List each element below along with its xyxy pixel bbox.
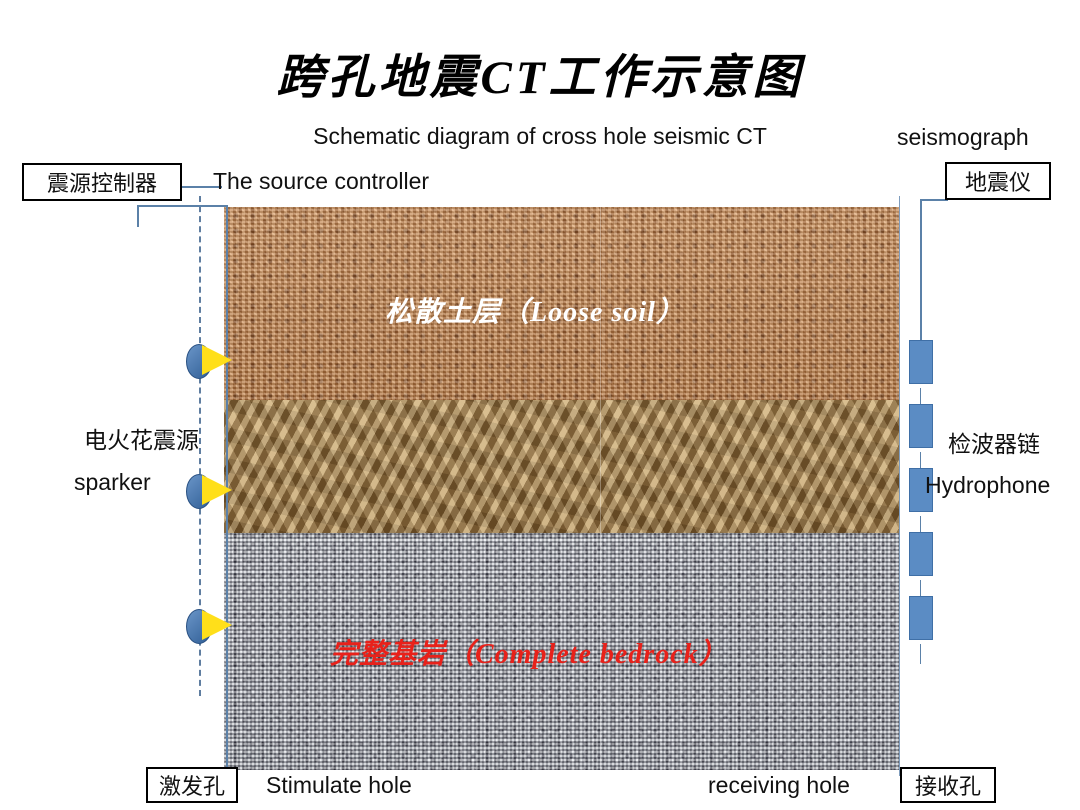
sparker-source-1[interactable] (186, 339, 232, 381)
hydrophone-1[interactable] (909, 340, 933, 384)
controller-wire-drop-left (137, 205, 139, 227)
sparker-source-2[interactable] (186, 469, 232, 511)
seismograph-lead (920, 199, 948, 201)
sparker-source-3[interactable] (186, 604, 232, 646)
wave-beam-icon (202, 345, 232, 375)
hydrophone-4[interactable] (909, 532, 933, 576)
receiving-hole-box[interactable]: 接收孔 (900, 767, 996, 803)
hydrophone-cable-6 (920, 644, 922, 664)
layer-caption-loose-soil: 松散土层（Loose soil） (385, 290, 685, 330)
wave-beam-icon (202, 610, 232, 640)
wave-beam-icon (202, 475, 232, 505)
layer-caption-complete-bedrock: 完整基岩（Complete bedrock） (330, 632, 728, 672)
stimulate-hole-label-en: Stimulate hole (266, 772, 412, 799)
receiving-hole-label-en: receiving hole (708, 772, 850, 799)
seismograph-label-en: seismograph (897, 124, 1029, 151)
receiving-borehole-axis (899, 196, 900, 776)
controller-wire-horizontal (137, 205, 227, 207)
sparker-label-cn: 电火花震源 (84, 421, 199, 455)
hydrophone-5[interactable] (909, 596, 933, 640)
page-title-chinese: 跨孔地震CT工作示意图 (0, 38, 1080, 107)
hydrophone-label-en: Hydrophone (925, 472, 1050, 499)
seismograph-box[interactable]: 地震仪 (945, 162, 1051, 200)
diagram-canvas: 跨孔地震CT工作示意图 Schematic diagram of cross h… (0, 0, 1080, 810)
source-controller-label-en: The source controller (213, 168, 429, 195)
layer-weathered-rock (224, 400, 900, 533)
hydrophone-label-cn: 检波器链 (948, 425, 1040, 459)
seismograph-cable-top (920, 199, 922, 344)
stimulate-hole-box[interactable]: 激发孔 (146, 767, 238, 803)
source-controller-box[interactable]: 震源控制器 (22, 163, 182, 201)
hydrophone-2[interactable] (909, 404, 933, 448)
sparker-label-en: sparker (74, 469, 151, 496)
